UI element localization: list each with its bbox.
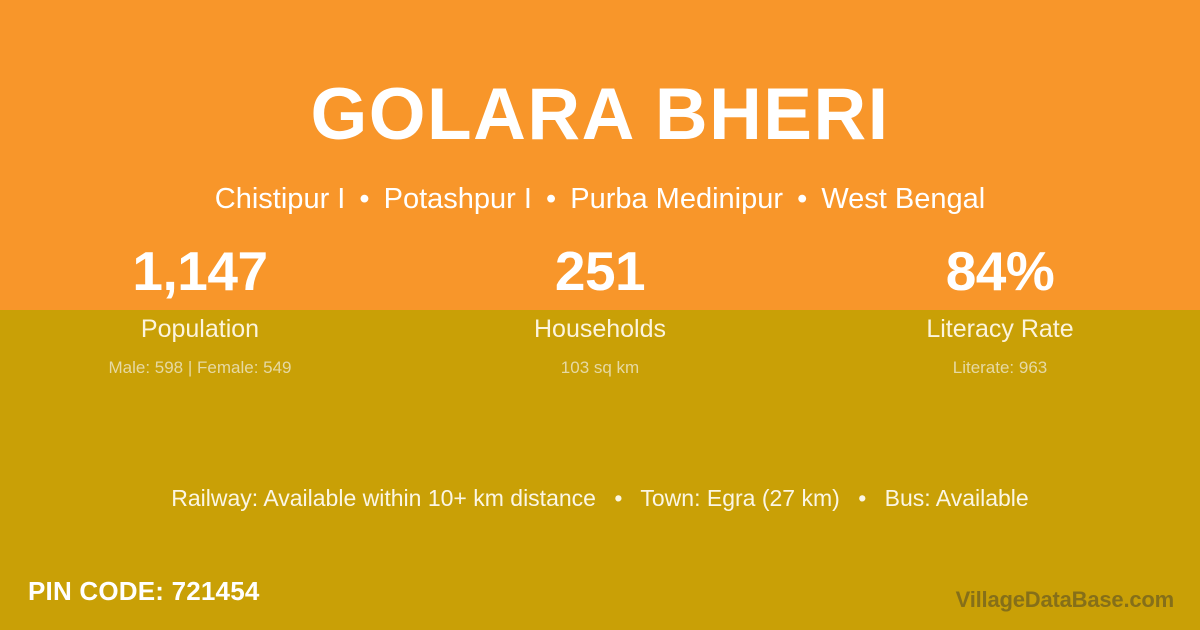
breadcrumb: Chistipur I • Potashpur I • Purba Medini… [0,181,1200,217]
stat-literacy-rate: 84% Literacy Rate Literate: 963 [800,244,1200,377]
stat-sublabel: 103 sq km [400,359,800,378]
infrastructure-item-bus: Bus: Available [885,485,1029,511]
pin-code: PIN CODE: 721454 [28,576,260,607]
infrastructure-item-town: Town: Egra (27 km) [640,485,839,511]
page-title: GOLARA BHERI [0,78,1200,151]
stat-value: 251 [400,244,800,299]
breadcrumb-separator: • [353,183,375,215]
stat-population: 1,147 Population Male: 598 | Female: 549 [0,244,400,377]
stats-row: 1,147 Population Male: 598 | Female: 549… [0,244,1200,377]
stat-households: 251 Households 103 sq km [400,244,800,377]
stat-label: Literacy Rate [800,316,1200,344]
stat-sublabel: Literate: 963 [800,359,1200,378]
infrastructure-summary: Railway: Available within 10+ km distanc… [0,485,1200,513]
breadcrumb-item-subdistrict: Potashpur I [384,183,532,215]
breadcrumb-item-state: West Bengal [821,183,985,215]
breadcrumb-separator: • [791,183,813,215]
stat-label: Households [400,316,800,344]
stat-sublabel: Male: 598 | Female: 549 [0,359,400,378]
infrastructure-separator: • [602,485,634,511]
village-info-card: GOLARA BHERI Chistipur I • Potashpur I •… [0,0,1200,630]
breadcrumb-item-district: Purba Medinipur [570,183,783,215]
site-branding: VillageDataBase.com [956,587,1174,613]
breadcrumb-item-block: Chistipur I [215,183,346,215]
breadcrumb-separator: • [540,183,562,215]
infrastructure-separator: • [846,485,878,511]
stat-label: Population [0,316,400,344]
stat-value: 84% [800,244,1200,299]
infrastructure-item-railway: Railway: Available within 10+ km distanc… [171,485,596,511]
stat-value: 1,147 [0,244,400,299]
